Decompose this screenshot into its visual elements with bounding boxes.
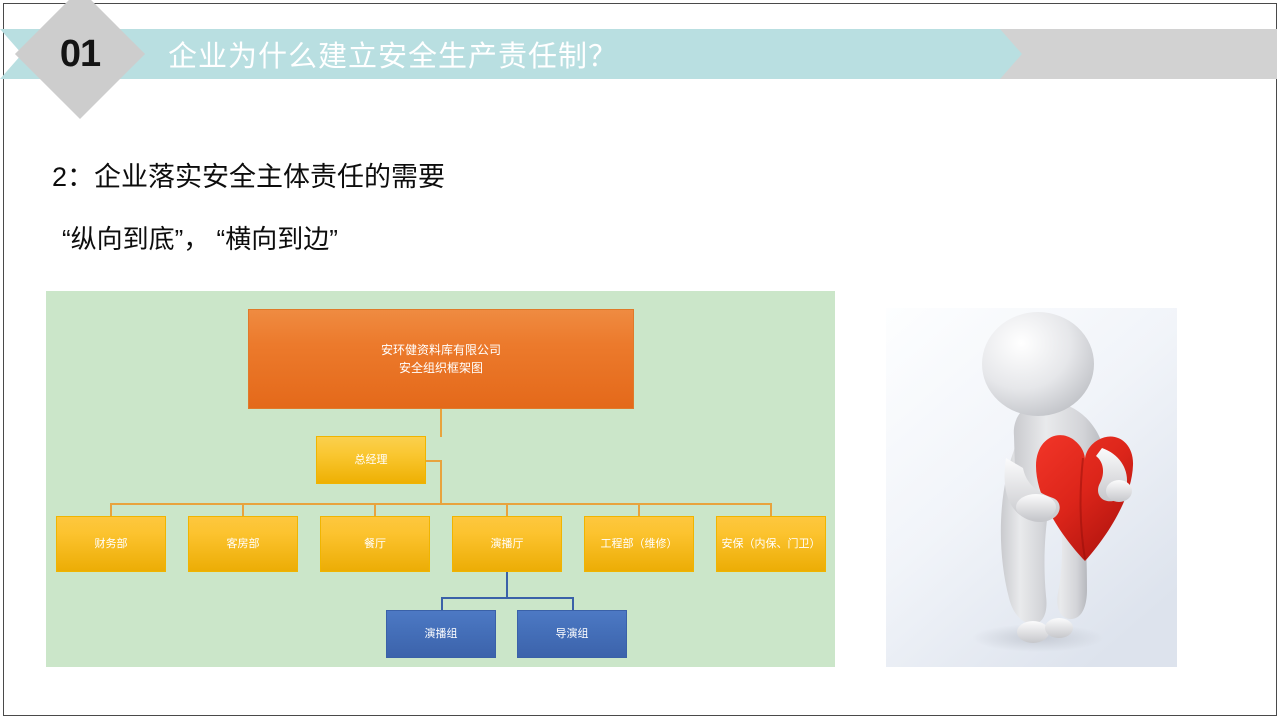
org-node-manager-label: 总经理 xyxy=(355,452,388,469)
org-node-root-line2: 安全组织框架图 xyxy=(399,359,483,377)
connector-manager-drop xyxy=(440,460,442,504)
org-node-root[interactable]: 安环健资料库有限公司 安全组织框架图 xyxy=(248,309,634,409)
connector-drop-group-2 xyxy=(572,597,574,610)
org-chart-panel: 安环健资料库有限公司 安全组织框架图 总经理 财务部 客房部 餐厅 演播厅 工程… xyxy=(46,291,835,667)
slide-border-left xyxy=(3,3,4,716)
slide-canvas: 01 企业为什么建立安全生产责任制？ 2：企业落实安全主体责任的需要 “纵向到底… xyxy=(0,0,1280,720)
connector-drop-dept-4 xyxy=(506,503,508,516)
connector-drop-dept-1 xyxy=(110,503,112,516)
connector-drop-dept-5 xyxy=(638,503,640,516)
section-number-label: 01 xyxy=(34,8,126,100)
slide-border-right xyxy=(1276,3,1277,716)
connector-drop-group-1 xyxy=(441,597,443,610)
org-node-root-line1: 安环健资料库有限公司 xyxy=(381,341,501,359)
org-node-label: 餐厅 xyxy=(364,536,386,553)
org-node-label: 客房部 xyxy=(227,536,260,553)
org-node-label: 财务部 xyxy=(95,536,128,553)
org-node-department-finance[interactable]: 财务部 xyxy=(56,516,166,572)
org-node-group-director[interactable]: 导演组 xyxy=(517,610,627,658)
org-node-manager[interactable]: 总经理 xyxy=(316,436,426,484)
org-node-label: 工程部（维修） xyxy=(601,536,678,553)
org-node-label: 安保（内保、门卫） xyxy=(722,536,821,553)
lead-text: 2：企业落实安全主体责任的需要 xyxy=(52,155,445,194)
connector-studio-drop xyxy=(506,572,508,599)
org-node-label: 演播厅 xyxy=(491,536,524,553)
figure-with-heart-image xyxy=(886,308,1177,667)
connector-drop-dept-3 xyxy=(374,503,376,516)
slide-border-top xyxy=(3,3,1277,4)
org-node-label: 演播组 xyxy=(425,626,458,643)
org-node-label: 导演组 xyxy=(556,626,589,643)
page-title: 企业为什么建立安全生产责任制？ xyxy=(168,29,618,79)
connector-group-bus xyxy=(441,597,573,599)
org-node-department-housekeeping[interactable]: 客房部 xyxy=(188,516,298,572)
connector-department-bus xyxy=(110,503,771,505)
connector-root-to-manager xyxy=(440,409,442,437)
org-node-department-studio[interactable]: 演播厅 xyxy=(452,516,562,572)
org-node-department-restaurant[interactable]: 餐厅 xyxy=(320,516,430,572)
org-node-department-security[interactable]: 安保（内保、门卫） xyxy=(716,516,826,572)
header-band-gray xyxy=(1000,29,1277,79)
org-node-department-engineering[interactable]: 工程部（维修） xyxy=(584,516,694,572)
connector-drop-dept-2 xyxy=(242,503,244,516)
org-node-group-broadcast[interactable]: 演播组 xyxy=(386,610,496,658)
connector-drop-dept-6 xyxy=(770,503,772,516)
sub-text: “纵向到底”， “横向到边” xyxy=(62,219,338,256)
slide-border-bottom xyxy=(3,715,1277,716)
